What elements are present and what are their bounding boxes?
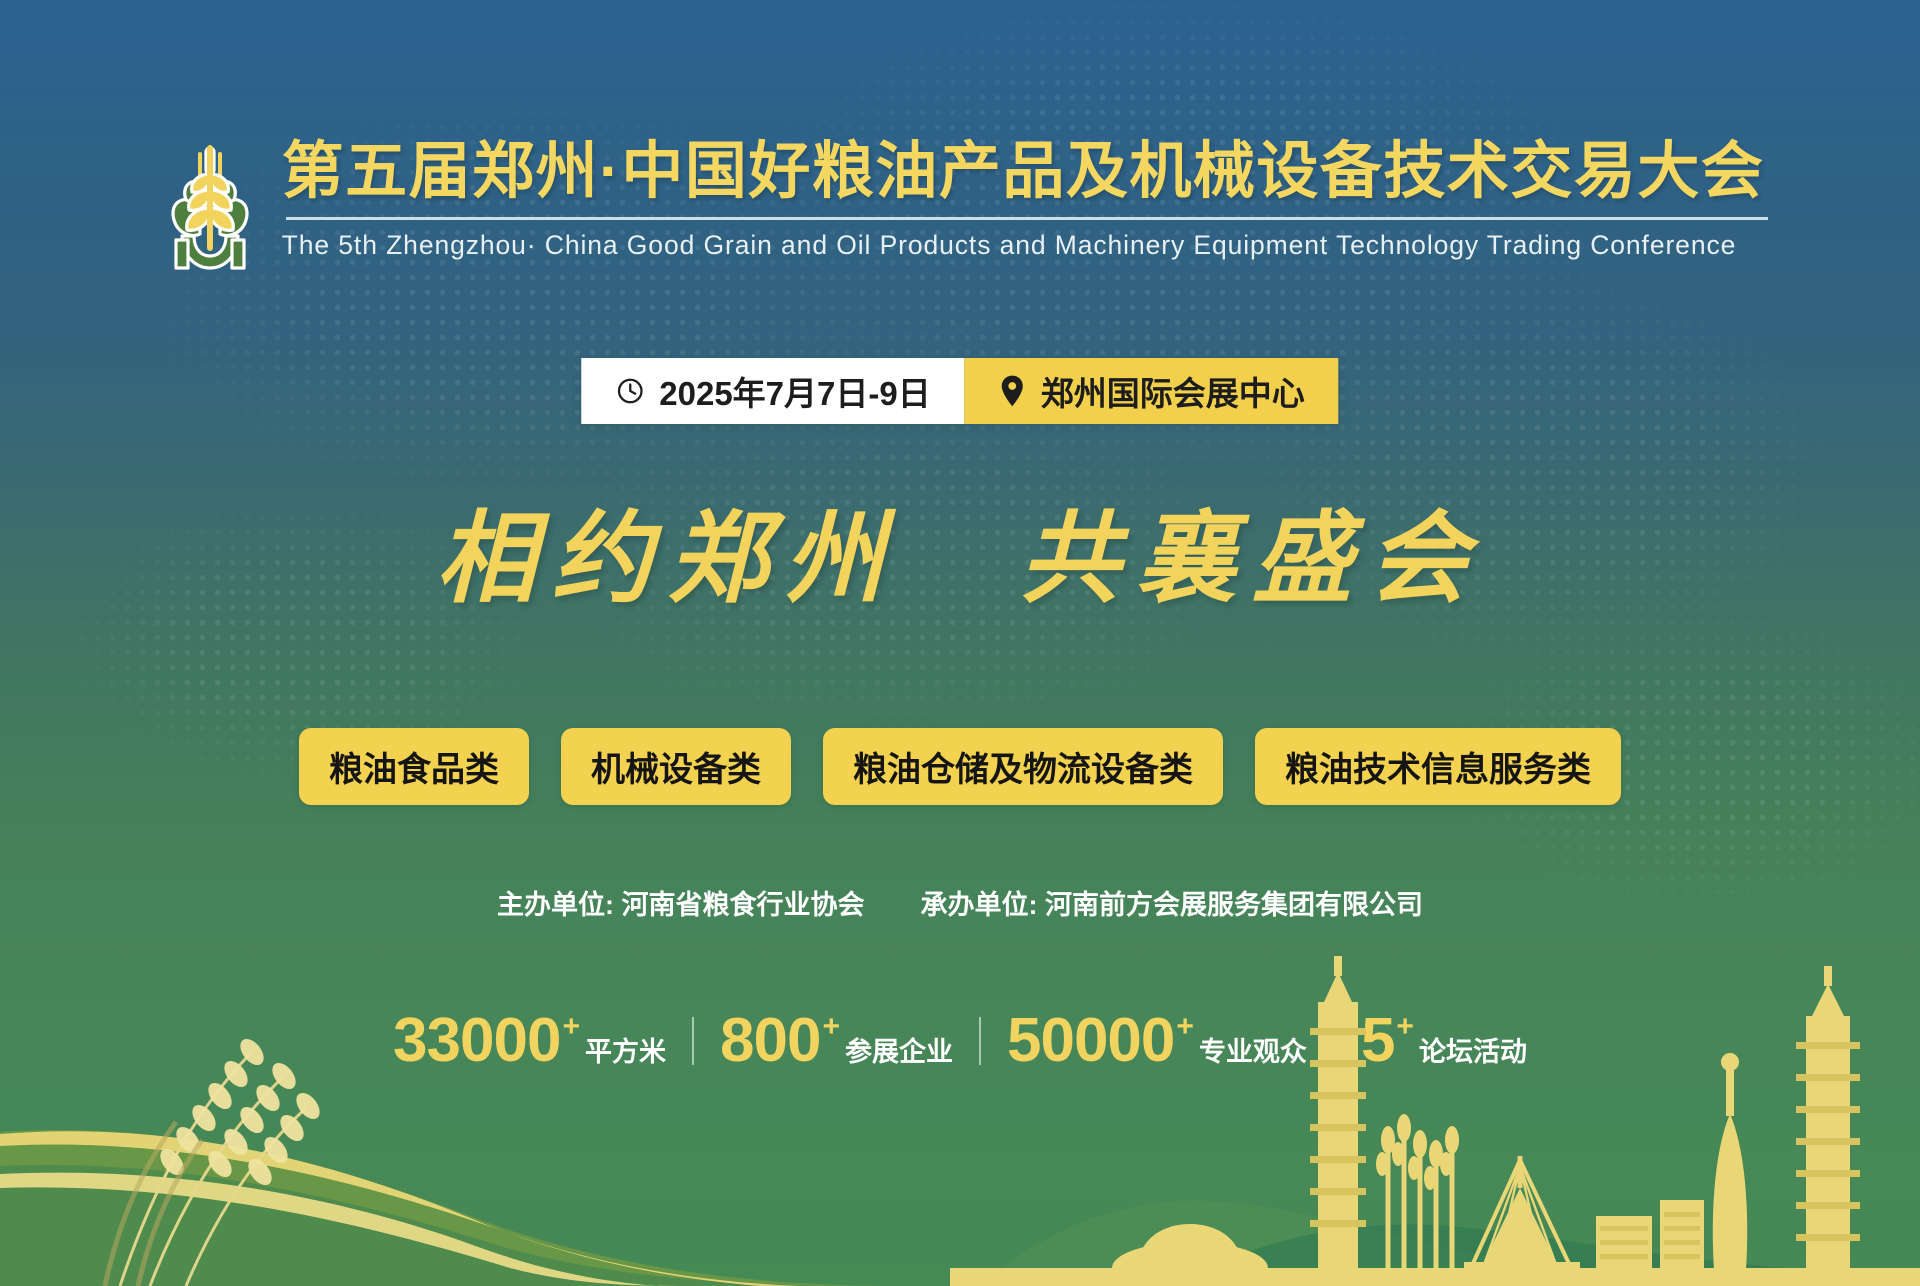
slogan-part-1: 相约郑州 [436, 510, 900, 610]
location-pin-icon [999, 375, 1027, 407]
pagoda-tower-a [1310, 956, 1366, 1270]
poster-header: 第五届郑州·中国好粮油产品及机械设备技术交易大会 The 5th Zhengzh… [0, 140, 1920, 274]
pagoda-tower-b [1796, 966, 1860, 1270]
date-venue-bar: 2025年7月7日-9日 郑州国际会展中心 [581, 358, 1338, 424]
venue-chip: 郑州国际会展中心 [965, 358, 1339, 424]
date-chip: 2025年7月7日-9日 [581, 358, 964, 424]
low-rise-buildings [1596, 1200, 1704, 1270]
corn-tower [1713, 1053, 1747, 1270]
wheat-sprout-logo [156, 144, 264, 274]
category-pill[interactable]: 机械设备类 [561, 728, 791, 805]
venue-text: 郑州国际会展中心 [1041, 367, 1305, 415]
conference-poster: 第五届郑州·中国好粮油产品及机械设备技术交易大会 The 5th Zhengzh… [0, 0, 1920, 1286]
clock-icon [615, 376, 645, 406]
title-divider [286, 217, 1769, 220]
category-pill[interactable]: 粮油食品类 [299, 728, 529, 805]
poster-title-en: The 5th Zhengzhou· China Good Grain and … [282, 230, 1765, 261]
category-pill[interactable]: 粮油仓储及物流设备类 [823, 728, 1223, 805]
date-text: 2025年7月7日-9日 [659, 367, 930, 415]
slogan-block: 相约郑州 共襄盛会 [0, 510, 1920, 610]
category-pill-list: 粮油食品类 机械设备类 粮油仓储及物流设备类 粮油技术信息服务类 [0, 728, 1920, 805]
slogan-part-2: 共襄盛会 [1020, 510, 1484, 610]
poster-title-cn: 第五届郑州·中国好粮油产品及机械设备技术交易大会 [282, 140, 1765, 203]
zhengzhou-skyline-silhouette [0, 816, 1920, 1286]
category-pill[interactable]: 粮油技术信息服务类 [1255, 728, 1621, 805]
